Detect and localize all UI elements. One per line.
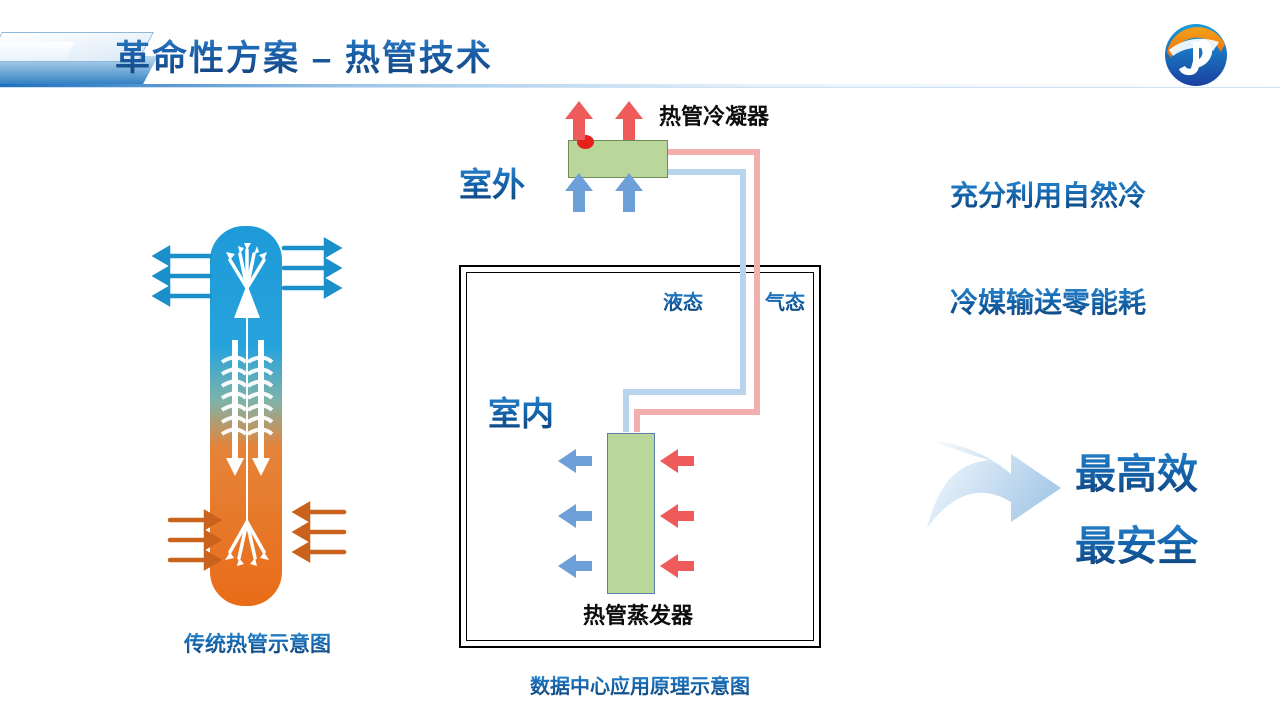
condenser-label: 热管冷凝器 <box>659 99 769 131</box>
hot-air-out-arrow <box>565 101 643 140</box>
gas-phase-label: 气态 <box>765 286 805 315</box>
right-pointing-gradient-arrow <box>925 432 1065 537</box>
indoor-zone-label: 室内 <box>488 387 554 435</box>
benefit-text-natural-cooling: 充分利用自然冷 <box>950 174 1146 214</box>
classic-heat-pipe-illustration <box>148 222 368 612</box>
cold-air-in-arrow <box>565 173 643 212</box>
evaporator-label: 热管蒸发器 <box>583 598 693 630</box>
outdoor-zone-label: 室外 <box>459 158 525 206</box>
liquid-phase-label: 液态 <box>663 286 703 315</box>
hot-air-in-arrow <box>660 449 694 578</box>
cool-air-out-arrow <box>558 449 592 578</box>
page-title: 革命性方案 – 热管技术 <box>115 30 493 81</box>
center-figure-caption: 数据中心应用原理示意图 <box>440 670 840 699</box>
conclusion-text-most-efficient: 最高效 <box>1075 440 1198 500</box>
left-figure-caption: 传统热管示意图 <box>150 628 365 658</box>
benefit-text-zero-energy: 冷媒输送零能耗 <box>950 281 1146 321</box>
company-globe-logo <box>1163 22 1229 88</box>
header-decoration-band-small <box>0 42 75 60</box>
header-divider-line-thin <box>0 87 1280 88</box>
conclusion-text-most-safe: 最安全 <box>1075 512 1198 572</box>
evaporator-airflow-arrows <box>550 445 710 595</box>
slide-header: 革命性方案 – 热管技术 <box>0 0 1280 96</box>
